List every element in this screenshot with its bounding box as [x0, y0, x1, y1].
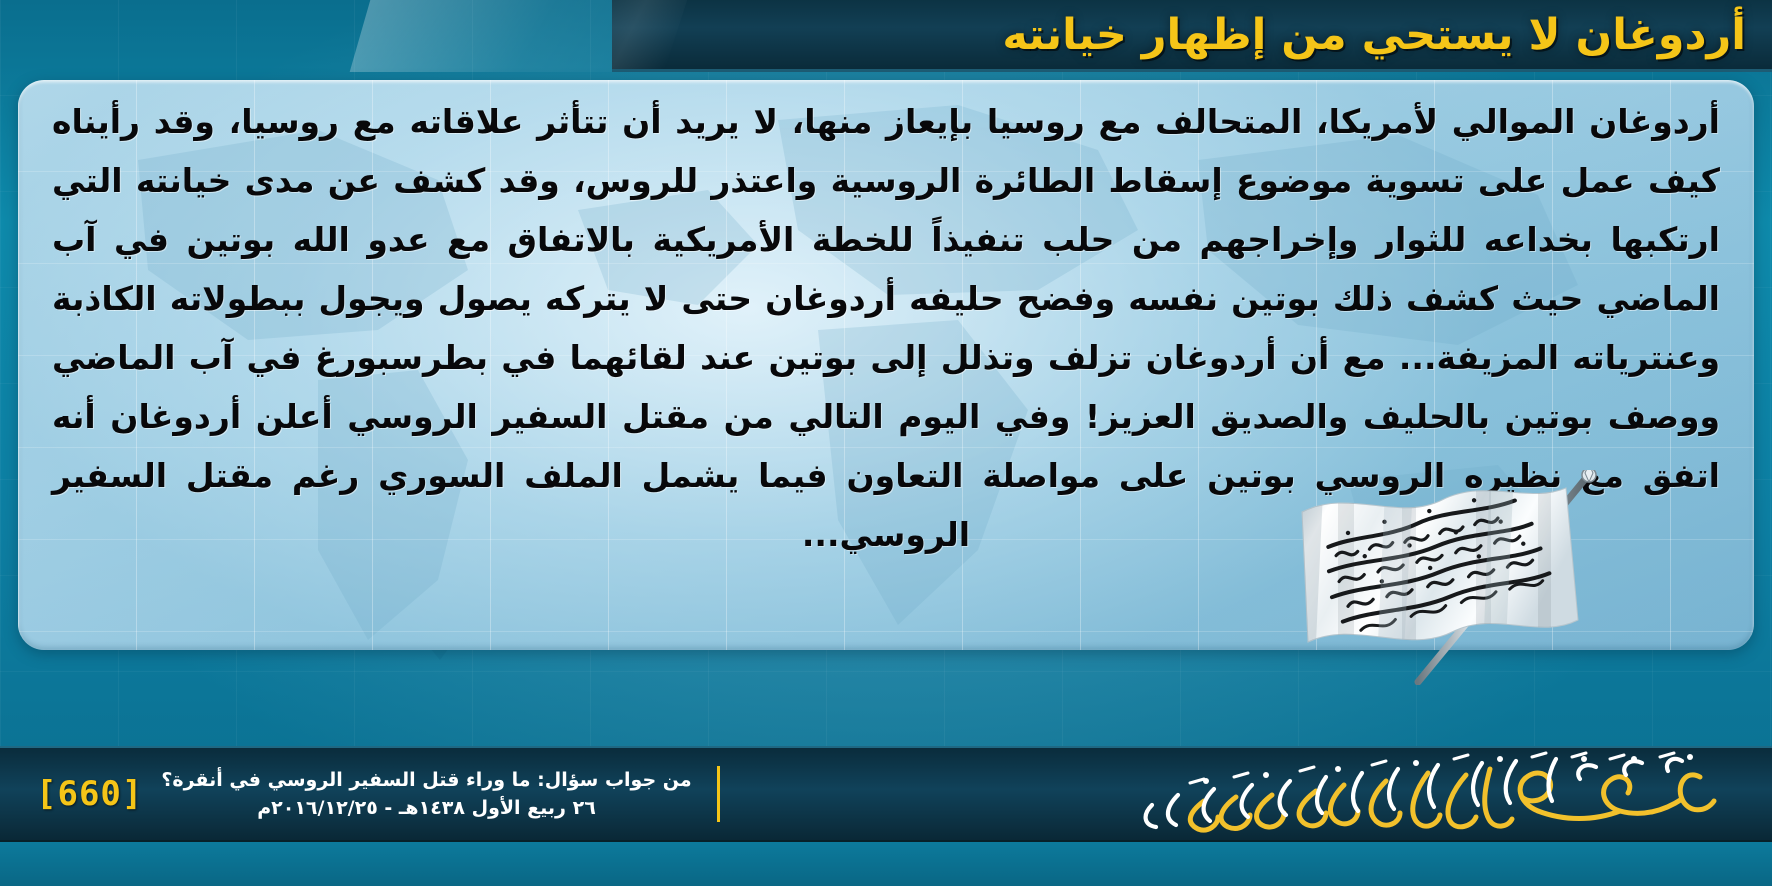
source-question: من جواب سؤال: ما وراء قتل السفير الروسي …	[150, 766, 703, 794]
footer-bar: [660] من جواب سؤال: ما وراء قتل السفير ا…	[0, 746, 1772, 842]
title-bar: أردوغان لا يستحي من إظهار خيانته	[612, 0, 1772, 72]
page-title: أردوغان لا يستحي من إظهار خيانته	[1002, 10, 1746, 60]
author-signature: العالِم عطاء بن خليل أبو الرَشتة	[1086, 751, 1726, 837]
bottom-strip	[0, 842, 1772, 886]
source-date: ٢٦ ربيع الأول ١٤٣٨هـ - ٢٠١٦/١٢/٢٥م	[150, 794, 703, 822]
article-panel: أردوغان الموالي لأمريكا، المتحالف مع روس…	[18, 80, 1754, 650]
article-body: أردوغان الموالي لأمريكا، المتحالف مع روس…	[18, 80, 1754, 564]
source-reference: من جواب سؤال: ما وراء قتل السفير الروسي …	[150, 766, 720, 822]
issue-badge: [660]	[36, 774, 143, 814]
poster-root: أردوغان لا يستحي من إظهار خيانته أردوغان…	[0, 0, 1772, 886]
